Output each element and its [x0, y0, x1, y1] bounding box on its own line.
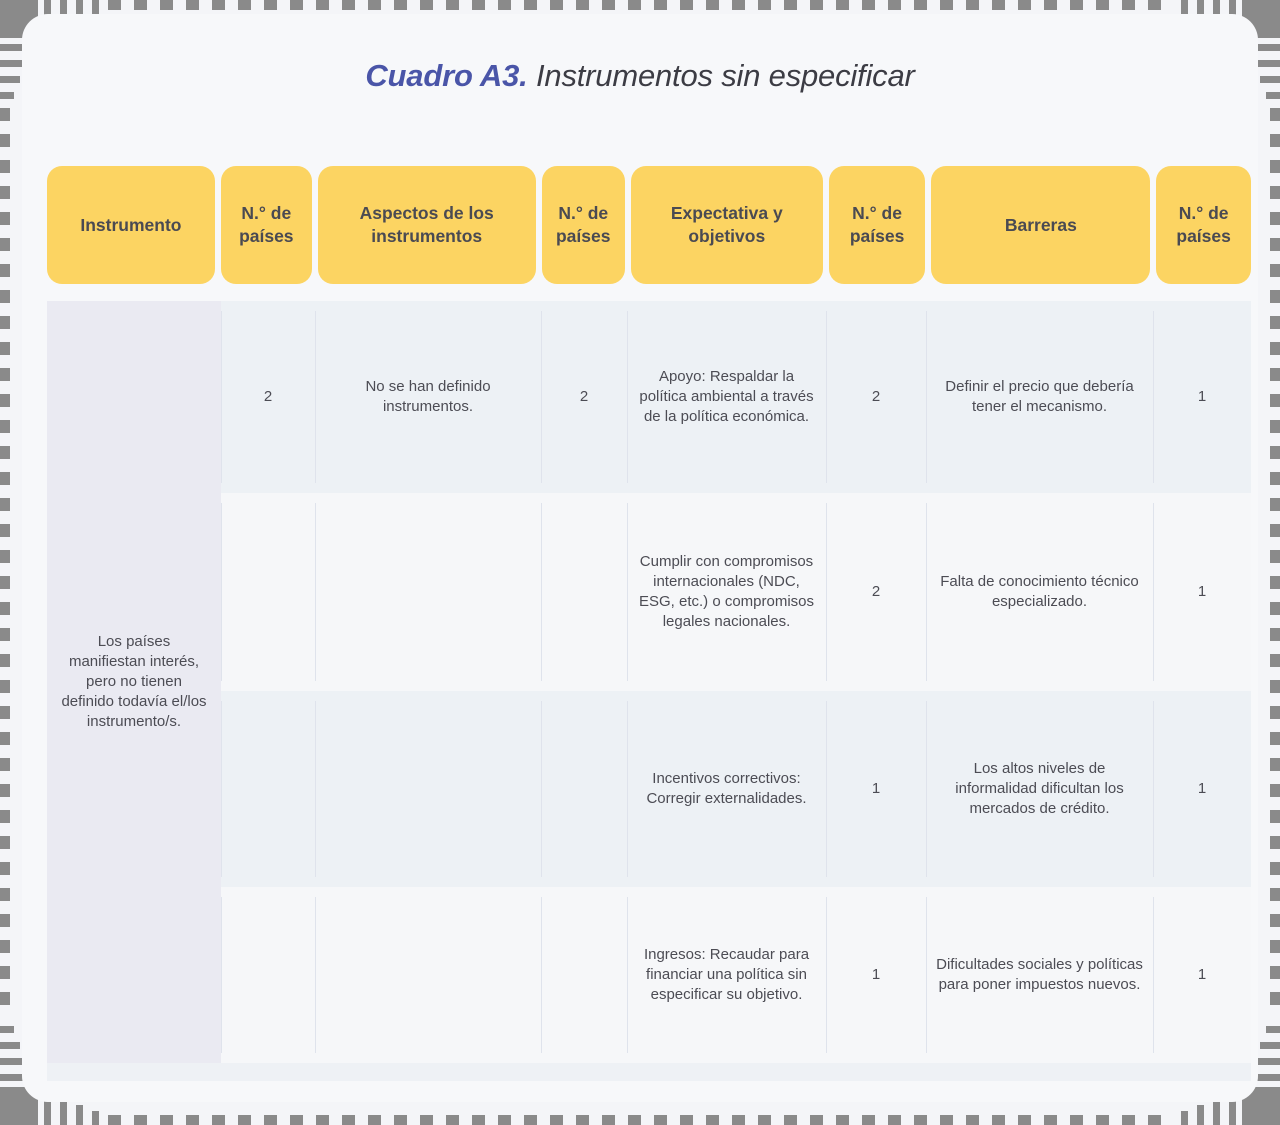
frame-dash	[420, 0, 433, 10]
table-row: 2No se han definido instrumentos.2Apoyo:…	[221, 301, 1251, 493]
frame-dash	[1270, 524, 1280, 537]
frame-dash	[108, 0, 121, 10]
frame-dash	[706, 0, 719, 10]
frame-dash	[1270, 706, 1280, 719]
data-table: Instrumento N.° de países Aspectos de lo…	[47, 166, 1251, 1081]
table-header-row: Instrumento N.° de países Aspectos de lo…	[47, 166, 1251, 284]
frame-dash	[576, 0, 589, 10]
frame-dash	[1096, 1115, 1109, 1125]
cell-n-paises-1: 2	[221, 301, 315, 493]
frame-dash	[186, 0, 199, 10]
frame-dash	[1270, 212, 1280, 225]
cell-n-paises-4: 1	[1153, 887, 1251, 1063]
frame-dash	[316, 0, 329, 10]
cell-n-paises-4: 1	[1153, 301, 1251, 493]
frame-dash	[0, 160, 10, 173]
frame-dash	[1270, 784, 1280, 797]
frame-dash	[160, 0, 173, 10]
frame-dash	[914, 1115, 927, 1125]
frame-dash	[810, 1115, 823, 1125]
cell-aspectos	[315, 887, 541, 1063]
table-bottom-strip	[47, 1063, 1251, 1081]
frame-dash	[1270, 602, 1280, 615]
page-title-rest: Instrumentos sin especificar	[528, 58, 915, 93]
frame-dash	[550, 0, 563, 10]
column-header-instrumento: Instrumento	[47, 166, 215, 284]
frame-dash	[784, 0, 797, 10]
frame-dash	[446, 1115, 459, 1125]
column-header-aspectos: Aspectos de los instrumentos	[318, 166, 536, 284]
cell-n-paises-2	[541, 493, 627, 691]
frame-dash	[0, 680, 10, 693]
table-row: Cumplir con compromisos internacionales …	[221, 493, 1251, 691]
cell-n-paises-4: 1	[1153, 493, 1251, 691]
cell-expectativa: Cumplir con compromisos internacionales …	[627, 493, 826, 691]
frame-dash	[966, 1115, 979, 1125]
frame-dash	[836, 0, 849, 10]
frame-dash	[1270, 576, 1280, 589]
frame-dash	[654, 1115, 667, 1125]
cell-expectativa: Incentivos correctivos: Corregir externa…	[627, 691, 826, 887]
frame-dash	[0, 654, 10, 667]
table-card: Cuadro A3. Instrumentos sin especificar …	[22, 14, 1258, 1102]
frame-dash	[0, 966, 10, 979]
frame-dash	[290, 0, 303, 10]
frame-dash	[0, 290, 10, 303]
frame-dash	[1270, 238, 1280, 251]
frame-dash	[1070, 1115, 1083, 1125]
frame-dash	[914, 0, 927, 10]
frame-dash	[1270, 264, 1280, 277]
frame-dash	[498, 0, 511, 10]
column-header-n-paises-1: N.° de países	[221, 166, 312, 284]
frame-dash	[784, 1115, 797, 1125]
frame-dash	[524, 1115, 537, 1125]
frame-dash	[76, 1105, 83, 1125]
frame-dash	[186, 1115, 199, 1125]
frame-dash	[810, 0, 823, 10]
column-header-barreras: Barreras	[931, 166, 1150, 284]
frame-dash	[0, 108, 10, 121]
frame-dash	[1270, 654, 1280, 667]
frame-dash	[732, 0, 745, 10]
frame-dash	[1270, 368, 1280, 381]
frame-dash	[758, 1115, 771, 1125]
frame-dash	[1270, 940, 1280, 953]
frame-dash	[0, 706, 10, 719]
cell-aspectos: No se han definido instrumentos.	[315, 301, 541, 493]
cell-n-paises-2	[541, 887, 627, 1063]
cell-n-paises-2	[541, 691, 627, 887]
frame-dash	[342, 1115, 355, 1125]
table-row: Ingresos: Recaudar para financiar una po…	[221, 887, 1251, 1063]
frame-dash	[0, 810, 10, 823]
frame-dash	[498, 1115, 511, 1125]
cell-aspectos	[315, 493, 541, 691]
frame-dash	[0, 992, 10, 1005]
table-rows-stack: 2No se han definido instrumentos.2Apoyo:…	[221, 301, 1251, 1063]
frame-dash	[1270, 888, 1280, 901]
cell-n-paises-3: 2	[826, 301, 926, 493]
frame-dash	[0, 76, 20, 83]
frame-dash	[0, 940, 10, 953]
frame-dash	[862, 0, 875, 10]
column-header-n-paises-4: N.° de países	[1156, 166, 1251, 284]
frame-dash	[1270, 732, 1280, 745]
cell-n-paises-1	[221, 493, 315, 691]
frame-dash	[1197, 1105, 1204, 1125]
frame-dash	[940, 1115, 953, 1125]
instrumento-merged-cell: Los países manifiestan interés, pero no …	[47, 301, 221, 1063]
frame-dash	[264, 0, 277, 10]
frame-dash	[1270, 914, 1280, 927]
frame-dash	[1181, 1111, 1188, 1125]
cell-barreras: Dificultades sociales y políticas para p…	[926, 887, 1153, 1063]
frame-dash	[1270, 498, 1280, 511]
frame-dash	[1260, 76, 1280, 83]
frame-dash	[602, 0, 615, 10]
frame-dash	[654, 0, 667, 10]
frame-dash	[0, 92, 14, 99]
frame-dash	[602, 1115, 615, 1125]
frame-dash	[0, 1026, 14, 1033]
frame-dash	[1148, 1115, 1161, 1125]
frame-dash	[1122, 1115, 1135, 1125]
frame-dash	[0, 342, 10, 355]
cell-barreras: Definir el precio que debería tener el m…	[926, 301, 1153, 493]
frame-dash	[1270, 342, 1280, 355]
frame-dash	[238, 0, 251, 10]
frame-dash	[706, 1115, 719, 1125]
frame-dash	[992, 0, 1005, 10]
frame-dash	[0, 628, 10, 641]
frame-dash	[0, 186, 10, 199]
frame-dash	[0, 758, 10, 771]
frame-dash	[446, 0, 459, 10]
frame-dash	[160, 1115, 173, 1125]
cell-n-paises-1	[221, 691, 315, 887]
frame-dash	[92, 1111, 99, 1125]
frame-dash	[680, 0, 693, 10]
frame-dash	[1270, 550, 1280, 563]
frame-dash	[0, 550, 10, 563]
cell-n-paises-3: 2	[826, 493, 926, 691]
frame-dash	[1266, 92, 1280, 99]
frame-dash	[394, 1115, 407, 1125]
frame-dash	[368, 1115, 381, 1125]
page-title-strong: Cuadro A3.	[365, 58, 527, 93]
frame-dash	[1266, 1026, 1280, 1033]
frame-dash	[0, 862, 10, 875]
frame-dash	[342, 0, 355, 10]
cell-barreras: Falta de conocimiento técnico especializ…	[926, 493, 1153, 691]
frame-dash	[0, 524, 10, 537]
frame-dash	[0, 238, 10, 251]
frame-dash	[0, 472, 10, 485]
page-title: Cuadro A3. Instrumentos sin especificar	[22, 58, 1258, 94]
frame-dash	[1018, 1115, 1031, 1125]
frame-dash	[0, 264, 10, 277]
frame-dash	[680, 1115, 693, 1125]
frame-dash	[0, 134, 10, 147]
table-body: Los países manifiestan interés, pero no …	[47, 301, 1251, 1081]
frame-dash	[732, 1115, 745, 1125]
frame-dash	[1270, 862, 1280, 875]
frame-dash	[1181, 0, 1188, 14]
frame-dash	[1044, 1115, 1057, 1125]
frame-dash	[1270, 628, 1280, 641]
cell-n-paises-3: 1	[826, 887, 926, 1063]
column-header-expectativa: Expectativa y objetivos	[631, 166, 823, 284]
frame-dash	[0, 316, 10, 329]
frame-dash	[1270, 446, 1280, 459]
frame-dash	[212, 1115, 225, 1125]
frame-dash	[0, 446, 10, 459]
frame-dash	[1270, 186, 1280, 199]
frame-dash	[1070, 0, 1083, 10]
frame-dash	[0, 888, 10, 901]
frame-dash	[888, 0, 901, 10]
frame-dash	[1270, 108, 1280, 121]
frame-dash	[628, 0, 641, 10]
frame-dash	[472, 0, 485, 10]
frame-dash	[1148, 0, 1161, 10]
frame-dash	[264, 1115, 277, 1125]
cell-aspectos	[315, 691, 541, 887]
frame-dash	[0, 602, 10, 615]
frame-dash	[134, 0, 147, 10]
frame-dash	[0, 784, 10, 797]
frame-dash	[0, 836, 10, 849]
table-body-area: Los países manifiestan interés, pero no …	[47, 301, 1251, 1063]
frame-dash	[1270, 394, 1280, 407]
frame-dash	[1270, 758, 1280, 771]
column-header-n-paises-2: N.° de países	[542, 166, 625, 284]
cell-n-paises-3: 1	[826, 691, 926, 887]
frame-dash	[0, 914, 10, 927]
cell-expectativa: Ingresos: Recaudar para financiar una po…	[627, 887, 826, 1063]
frame-dash	[1270, 810, 1280, 823]
frame-dash	[1270, 160, 1280, 173]
table-row: Incentivos correctivos: Corregir externa…	[221, 691, 1251, 887]
frame-dash	[524, 0, 537, 10]
frame-dash	[0, 732, 10, 745]
frame-dash	[1270, 966, 1280, 979]
frame-dash	[420, 1115, 433, 1125]
frame-dash	[0, 212, 10, 225]
frame-dash	[1270, 472, 1280, 485]
frame-dash	[1096, 0, 1109, 10]
cell-expectativa: Apoyo: Respaldar la política ambiental a…	[627, 301, 826, 493]
frame-dash	[940, 0, 953, 10]
frame-dash	[1122, 0, 1135, 10]
frame-dash	[862, 1115, 875, 1125]
frame-dash	[316, 1115, 329, 1125]
frame-dash	[992, 1115, 1005, 1125]
frame-dash	[368, 0, 381, 10]
frame-dash	[966, 0, 979, 10]
frame-dash	[0, 1042, 20, 1049]
frame-dash	[550, 1115, 563, 1125]
frame-dash	[134, 1115, 147, 1125]
frame-dash	[212, 0, 225, 10]
cell-n-paises-4: 1	[1153, 691, 1251, 887]
frame-dash	[1260, 1042, 1280, 1049]
frame-dash	[394, 0, 407, 10]
frame-dash	[1270, 992, 1280, 1005]
frame-dash	[0, 420, 10, 433]
frame-dash	[0, 394, 10, 407]
frame-dash	[0, 498, 10, 511]
frame-dash	[290, 1115, 303, 1125]
frame-dash	[758, 0, 771, 10]
cell-n-paises-1	[221, 887, 315, 1063]
frame-dash	[0, 576, 10, 589]
frame-dash	[1018, 0, 1031, 10]
frame-dash	[108, 1115, 121, 1125]
frame-dash	[238, 1115, 251, 1125]
frame-dash	[628, 1115, 641, 1125]
frame-dash	[888, 1115, 901, 1125]
frame-dash	[0, 368, 10, 381]
column-header-n-paises-3: N.° de países	[829, 166, 926, 284]
frame-dash	[576, 1115, 589, 1125]
frame-dash	[1270, 316, 1280, 329]
frame-dash	[1270, 836, 1280, 849]
frame-dash	[1270, 680, 1280, 693]
frame-dash	[1270, 290, 1280, 303]
frame-dash	[836, 1115, 849, 1125]
frame-dash	[1270, 134, 1280, 147]
cell-n-paises-2: 2	[541, 301, 627, 493]
frame-dash	[1044, 0, 1057, 10]
frame-dash	[472, 1115, 485, 1125]
frame-dash	[92, 0, 99, 14]
frame-dash	[1270, 420, 1280, 433]
cell-barreras: Los altos niveles de informalidad dificu…	[926, 691, 1153, 887]
